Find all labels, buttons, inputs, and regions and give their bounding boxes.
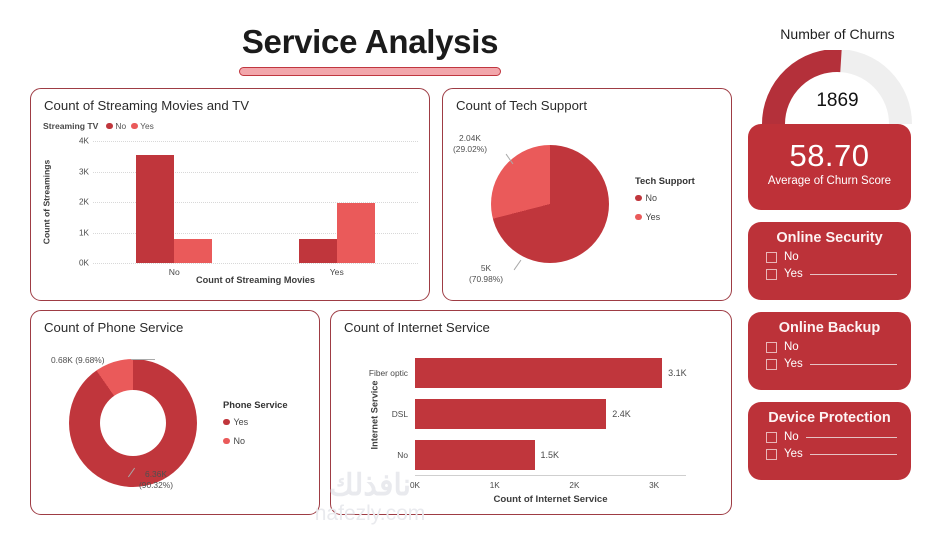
legend-label-tech-no: No [646,193,658,203]
slicer-title-device-protection: Device Protection [748,410,911,426]
legend-swatch-tech-yes [635,214,642,221]
slicer-option-label: No [784,431,799,443]
checkbox-icon[interactable] [766,449,777,460]
checkbox-icon[interactable] [766,432,777,443]
pie-tech-support[interactable] [491,145,609,263]
slicer-option-label: No [784,341,799,353]
checkbox-icon[interactable] [766,269,777,280]
y-axis-tick: No [397,450,408,460]
legend-label-phone-no: No [234,436,246,446]
bar-yes-no[interactable] [299,239,337,263]
bar-no[interactable] [415,440,535,470]
legend-title-phone-service: Phone Service [223,399,288,410]
pie-label-phone-yes-value: 6.36K [139,469,173,480]
kpi-value: 58.70 [748,138,911,174]
pie-label-tech-yes-value: 2.04K [453,133,487,144]
bar-dsl[interactable] [415,399,606,429]
y-axis-tick: Fiber optic [369,368,408,378]
slicer-online-security[interactable]: Online Security No Yes [748,222,911,300]
y-axis-label-streaming: Count of Streamings [39,141,53,263]
x-axis-label-internet: Count of Internet Service [415,494,686,505]
dashboard-canvas: Service Analysis Count of Streaming Movi… [0,0,937,543]
legend-title-tech-support: Tech Support [635,175,695,186]
slicer-title-online-security: Online Security [748,230,911,246]
gauge-value: 1869 [740,90,935,112]
slicer-option-label: Yes [784,268,803,280]
kpi-card-average-churn-score[interactable]: 58.70 Average of Churn Score [748,124,911,210]
slicer-divider [806,437,897,438]
pie-label-tech-no-value: 5K [469,263,503,274]
y-axis-tick: 2K [79,198,89,207]
legend-label-phone-yes: Yes [234,417,249,427]
bar-row: DSL2.4K [415,399,686,429]
page-title-text: Service Analysis [0,22,740,62]
y-axis-tick: 1K [79,228,89,237]
gauge-number-of-churns [762,50,912,126]
gridline [93,141,418,142]
checkbox-icon[interactable] [766,252,777,263]
x-axis-tick: 3K [649,481,659,490]
chart-title-internet-service: Count of Internet Service [344,320,490,335]
chart-card-internet-service[interactable]: Count of Internet Service Internet Servi… [330,310,732,515]
legend-tech-support[interactable]: Tech Support No Yes [635,175,695,231]
legend-swatch-no [106,123,113,130]
title-underline [239,67,501,76]
legend-streaming[interactable]: Streaming TV No Yes [43,121,154,131]
pie-label-tech-no-percent: (70.98%) [469,274,503,285]
slicer-option-device-protection-no[interactable]: No [766,431,911,443]
y-axis-label-internet-text: Internet Service [369,381,379,450]
slicer-option-label: No [784,251,799,263]
bar-yes-yes[interactable] [337,203,375,263]
legend-swatch-tech-no [635,195,642,202]
slicer-option-label: Yes [784,358,803,370]
plot-area-internet: Fiber optic3.1KDSL2.4KNo1.5K0K1K2K3K [415,353,686,475]
slicer-option-online-backup-yes[interactable]: Yes [766,358,911,370]
x-axis-tick: 1K [490,481,500,490]
chart-card-tech-support[interactable]: Count of Tech Support 2.04K (29.02%) 5K … [442,88,732,301]
y-axis-label-streaming-text: Count of Streamings [41,160,51,245]
chart-title-tech-support: Count of Tech Support [456,98,587,113]
pie-label-phone-yes: 6.36K (90.32%) [139,469,173,491]
legend-item-tech-no[interactable]: No [635,193,695,203]
bar-value-label: 1.5K [541,450,560,460]
legend-item-yes[interactable]: Yes [131,121,154,131]
pie-label-phone-yes-percent: (90.32%) [139,480,173,491]
pie-label-phone-no-value: 0.68K [51,355,73,365]
leader-line-phone-no [131,359,155,360]
y-axis-tick: 4K [79,137,89,146]
slicer-title-online-backup: Online Backup [748,320,911,336]
legend-phone-service[interactable]: Phone Service Yes No [223,399,288,455]
y-axis-tick: 0K [79,259,89,268]
chart-card-streaming[interactable]: Count of Streaming Movies and TV Streami… [30,88,430,301]
checkbox-icon[interactable] [766,342,777,353]
legend-label-no: No [115,121,126,131]
plot-area-streaming: 0K1K2K3K4KNoYes [93,141,418,263]
slicer-device-protection[interactable]: Device Protection No Yes [748,402,911,480]
slicer-option-online-backup-no[interactable]: No [766,341,911,353]
bar-fiber-optic[interactable] [415,358,662,388]
pie-label-tech-no: 5K (70.98%) [469,263,503,285]
bar-row: Fiber optic3.1K [415,358,686,388]
legend-swatch-phone-yes [223,419,230,426]
slicer-option-online-security-yes[interactable]: Yes [766,268,911,280]
bar-value-label: 2.4K [612,409,631,419]
x-axis-tick: 2K [569,481,579,490]
y-axis-label-internet: Internet Service [340,355,354,475]
x-axis-label-streaming: Count of Streaming Movies [93,275,418,285]
checkbox-icon[interactable] [766,359,777,370]
bar-no-no[interactable] [136,155,174,263]
pie-label-phone-no: 0.68K (9.68%) [51,355,105,366]
legend-label-yes: Yes [140,121,154,131]
legend-item-phone-yes[interactable]: Yes [223,417,288,427]
bar-no-yes[interactable] [174,239,212,263]
pie-label-tech-yes-percent: (29.02%) [453,144,487,155]
legend-item-phone-no[interactable]: No [223,436,288,446]
leader-line-tech-no [514,260,522,270]
slicer-divider [810,364,897,365]
pie-label-tech-yes: 2.04K (29.02%) [453,133,487,155]
legend-label-tech-yes: Yes [646,212,661,222]
slicer-online-backup[interactable]: Online Backup No Yes [748,312,911,390]
slicer-divider [810,274,897,275]
donut-hole [100,390,166,456]
gridline [93,263,418,264]
y-axis-tick: 3K [79,167,89,176]
slicer-divider [810,454,897,455]
legend-swatch-yes [131,123,138,130]
chart-title-phone-service: Count of Phone Service [44,320,183,335]
page-title: Service Analysis [0,22,740,76]
x-axis-line [415,475,686,476]
bar-row: No1.5K [415,440,686,470]
gauge-title: Number of Churns [740,26,935,42]
x-axis-tick: 0K [410,481,420,490]
legend-title-streaming: Streaming TV [43,121,98,131]
y-axis-tick: DSL [392,409,408,419]
legend-item-tech-yes[interactable]: Yes [635,212,695,222]
pie-label-phone-no-percent: (9.68%) [75,355,104,365]
gauge-arc [762,50,912,126]
slicer-option-label: Yes [784,448,803,460]
slicer-option-online-security-no[interactable]: No [766,251,911,263]
kpi-caption: Average of Churn Score [748,175,911,187]
slicer-option-device-protection-yes[interactable]: Yes [766,448,911,460]
bar-value-label: 3.1K [668,368,687,378]
legend-swatch-phone-no [223,438,230,445]
legend-item-no[interactable]: No [106,121,126,131]
chart-title-streaming: Count of Streaming Movies and TV [44,98,249,113]
chart-card-phone-service[interactable]: Count of Phone Service 0.68K (9.68%) 6.3… [30,310,320,515]
